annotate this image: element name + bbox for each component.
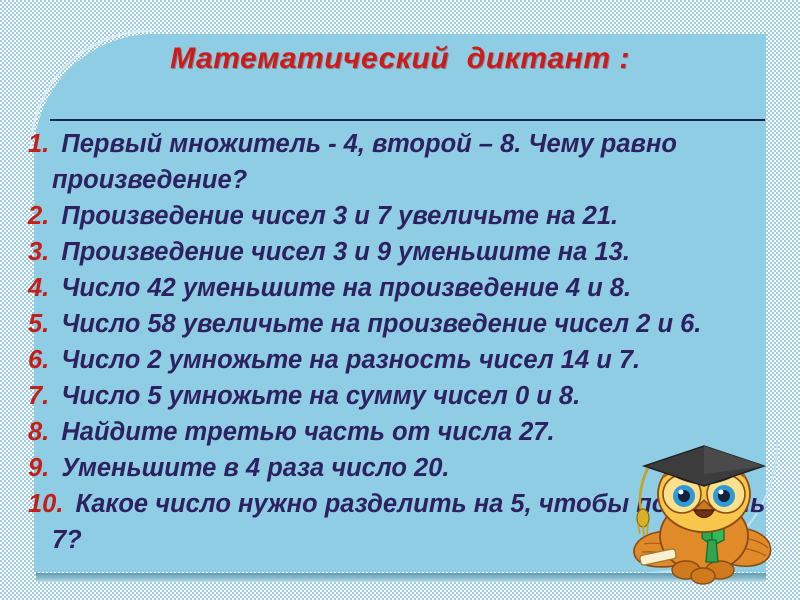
- owl-graduate-illustration: [624, 444, 784, 592]
- question-text: Число 42 уменьшите на произведение 4 и 8…: [54, 274, 631, 302]
- title-divider-rule: [50, 119, 765, 121]
- question-text: Число 2 умножьте на разность чисел 14 и …: [54, 346, 640, 374]
- slide-root: Математический диктант : 1. Первый множи…: [0, 0, 800, 600]
- question-number: 3.: [28, 238, 54, 266]
- question-item: 2. Произведение чисел 3 и 7 увеличьте на…: [28, 198, 776, 234]
- question-number: 6.: [28, 346, 54, 374]
- question-item: 4. Число 42 уменьшите на произведение 4 …: [28, 270, 776, 306]
- question-item: 1. Первый множитель - 4, второй – 8. Чем…: [28, 126, 776, 198]
- question-text: Произведение чисел 3 и 7 увеличьте на 21…: [54, 202, 618, 230]
- question-text: Число 5 умножьте на сумму чисел 0 и 8.: [54, 382, 580, 410]
- question-number: 2.: [28, 202, 54, 230]
- question-number: 10.: [28, 490, 68, 518]
- question-item: 7. Число 5 умножьте на сумму чисел 0 и 8…: [28, 378, 776, 414]
- question-number: 5.: [28, 310, 54, 338]
- question-number: 8.: [28, 418, 54, 446]
- question-item: 3. Произведение чисел 3 и 9 уменьшите на…: [28, 234, 776, 270]
- question-number: 4.: [28, 274, 54, 302]
- question-text: Число 58 увеличьте на произведение чисел…: [54, 310, 701, 338]
- question-text: Найдите третью часть от числа 27.: [54, 418, 554, 446]
- question-number: 9.: [28, 454, 54, 482]
- question-text: Первый множитель - 4, второй – 8. Чему р…: [52, 130, 677, 194]
- question-item: 5. Число 58 увеличьте на произведение чи…: [28, 306, 776, 342]
- question-text: Уменьшите в 4 раза число 20.: [54, 454, 449, 482]
- owl-cap-tassel: [637, 468, 649, 536]
- question-number: 1.: [28, 130, 54, 158]
- question-number: 7.: [28, 382, 54, 410]
- question-text: Произведение чисел 3 и 9 уменьшите на 13…: [54, 238, 630, 266]
- question-item: 6. Число 2 умножьте на разность чисел 14…: [28, 342, 776, 378]
- slide-content: Математический диктант : 1. Первый множи…: [0, 0, 800, 600]
- slide-title: Математический диктант :: [0, 42, 800, 76]
